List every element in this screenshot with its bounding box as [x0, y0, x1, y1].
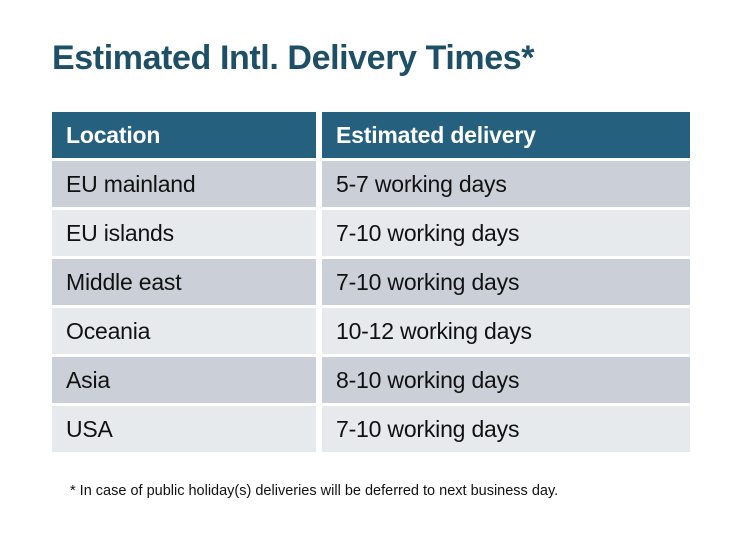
table-row: Middle east 7-10 working days — [52, 259, 690, 305]
delivery-times-card: Estimated Intl. Delivery Times* Location… — [0, 0, 745, 536]
table-row: EU mainland 5-7 working days — [52, 161, 690, 207]
table-row: USA 7-10 working days — [52, 406, 690, 452]
cell-location: USA — [52, 406, 316, 452]
cell-location: EU islands — [52, 210, 316, 256]
table-row: EU islands 7-10 working days — [52, 210, 690, 256]
column-header-estimated-delivery: Estimated delivery — [322, 112, 690, 158]
table-header: Location Estimated delivery — [52, 112, 690, 158]
cell-estimated-delivery: 7-10 working days — [322, 406, 690, 452]
cell-estimated-delivery: 7-10 working days — [322, 210, 690, 256]
cell-location: Middle east — [52, 259, 316, 305]
cell-location: EU mainland — [52, 161, 316, 207]
page-title: Estimated Intl. Delivery Times* — [52, 36, 534, 80]
cell-estimated-delivery: 10-12 working days — [322, 308, 690, 354]
table-body: EU mainland 5-7 working days EU islands … — [52, 158, 690, 452]
cell-estimated-delivery: 7-10 working days — [322, 259, 690, 305]
cell-estimated-delivery: 5-7 working days — [322, 161, 690, 207]
table-row: Oceania 10-12 working days — [52, 308, 690, 354]
cell-location: Asia — [52, 357, 316, 403]
cell-location: Oceania — [52, 308, 316, 354]
table-row: Asia 8-10 working days — [52, 357, 690, 403]
footnote: * In case of public holiday(s) deliverie… — [70, 481, 558, 501]
table-header-row: Location Estimated delivery — [52, 112, 690, 158]
cell-estimated-delivery: 8-10 working days — [322, 357, 690, 403]
column-header-location: Location — [52, 112, 316, 158]
delivery-times-table: Location Estimated delivery EU mainland … — [52, 112, 690, 452]
